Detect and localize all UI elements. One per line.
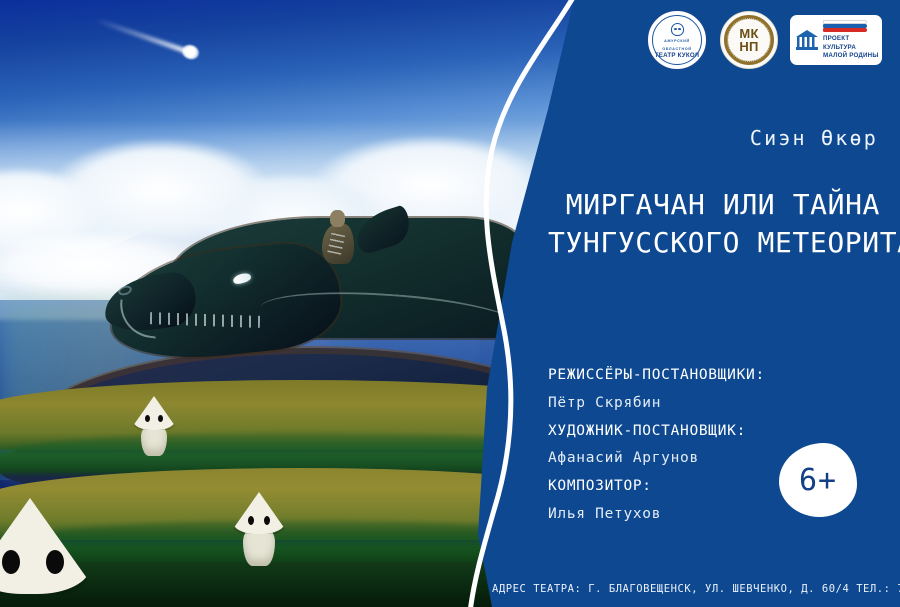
logo-row: АМУРСКИЙ ОБЛАСТНОЙ ТЕАТР КУКОЛ МК НП bbox=[646, 9, 882, 71]
play-title-line-2: тунгусского метеорита bbox=[548, 224, 880, 262]
mushroom-spirit-small bbox=[133, 396, 175, 456]
rider-figure bbox=[320, 210, 358, 266]
credit-person-directors: Пётр Скрябин bbox=[548, 390, 765, 418]
logo-mknp: МК НП bbox=[720, 11, 778, 69]
mushroom-eye-left bbox=[145, 415, 150, 422]
logo-project-line-2: КУЛЬТУРА bbox=[823, 44, 876, 52]
credit-role-composer: Композитор: bbox=[548, 473, 765, 501]
logo-project-text: ПРОЕКТ КУЛЬТУРА МАЛОЙ РОДИНЫ bbox=[823, 20, 876, 60]
rider-head bbox=[330, 210, 345, 227]
theatre-address-line: Адрес театра: г. Благовещенск, ул. Шевче… bbox=[492, 583, 886, 595]
flag-stripe-red bbox=[823, 28, 867, 32]
credit-role-designer: Художник-постановщик: bbox=[548, 418, 765, 446]
logo-project-line-1: ПРОЕКТ bbox=[823, 35, 876, 43]
credit-person-designer: Афанасий Аргунов bbox=[548, 445, 765, 473]
mushroom-eye-right bbox=[264, 516, 270, 525]
mushroom-cap bbox=[233, 492, 285, 534]
logo-mknp-line-1: МК bbox=[739, 27, 758, 40]
play-title-line-1: Миргачан или тайна bbox=[548, 186, 880, 224]
mushroom-spirit-large bbox=[0, 498, 90, 607]
logo-project-line-3: МАЛОЙ РОДИНЫ bbox=[823, 52, 876, 60]
author-name: Сиэн Өкөр bbox=[750, 126, 878, 150]
building-columns bbox=[797, 37, 817, 47]
logo-mknp-abbr: МК НП bbox=[739, 27, 758, 54]
logo-project-culture: ПРОЕКТ КУЛЬТУРА МАЛОЙ РОДИНЫ bbox=[790, 15, 882, 65]
mushroom-eye-right bbox=[158, 415, 163, 422]
play-title: Миргачан или тайна тунгусского метеорита bbox=[548, 186, 880, 261]
mushroom-eye-left bbox=[248, 516, 254, 525]
building-roof bbox=[796, 30, 818, 37]
mushroom-spirit-medium bbox=[233, 492, 285, 566]
logo-mknp-line-2: НП bbox=[739, 40, 758, 53]
comet-head bbox=[180, 43, 201, 62]
russian-flag-swoosh-icon bbox=[823, 20, 867, 33]
poster: АМУРСКИЙ ОБЛАСТНОЙ ТЕАТР КУКОЛ МК НП bbox=[0, 0, 900, 607]
mushroom-cap bbox=[133, 396, 175, 430]
mushroom-eye-right bbox=[46, 550, 64, 574]
theatre-mask-icon bbox=[671, 23, 684, 36]
credit-role-directors: Режиссёры-постановщики: bbox=[548, 362, 765, 390]
mushroom-cap bbox=[0, 498, 90, 594]
credits-block: Режиссёры-постановщики: Пётр Скрябин Худ… bbox=[548, 362, 765, 529]
building-base bbox=[796, 47, 818, 50]
credit-person-composer: Илья Петухов bbox=[548, 501, 765, 529]
classical-building-icon bbox=[796, 30, 818, 50]
logo-amur-puppet-theatre: АМУРСКИЙ ОБЛАСТНОЙ ТЕАТР КУКОЛ bbox=[646, 9, 708, 71]
age-rating-badge: 6+ bbox=[779, 443, 857, 517]
mushroom-eye-left bbox=[2, 550, 20, 574]
